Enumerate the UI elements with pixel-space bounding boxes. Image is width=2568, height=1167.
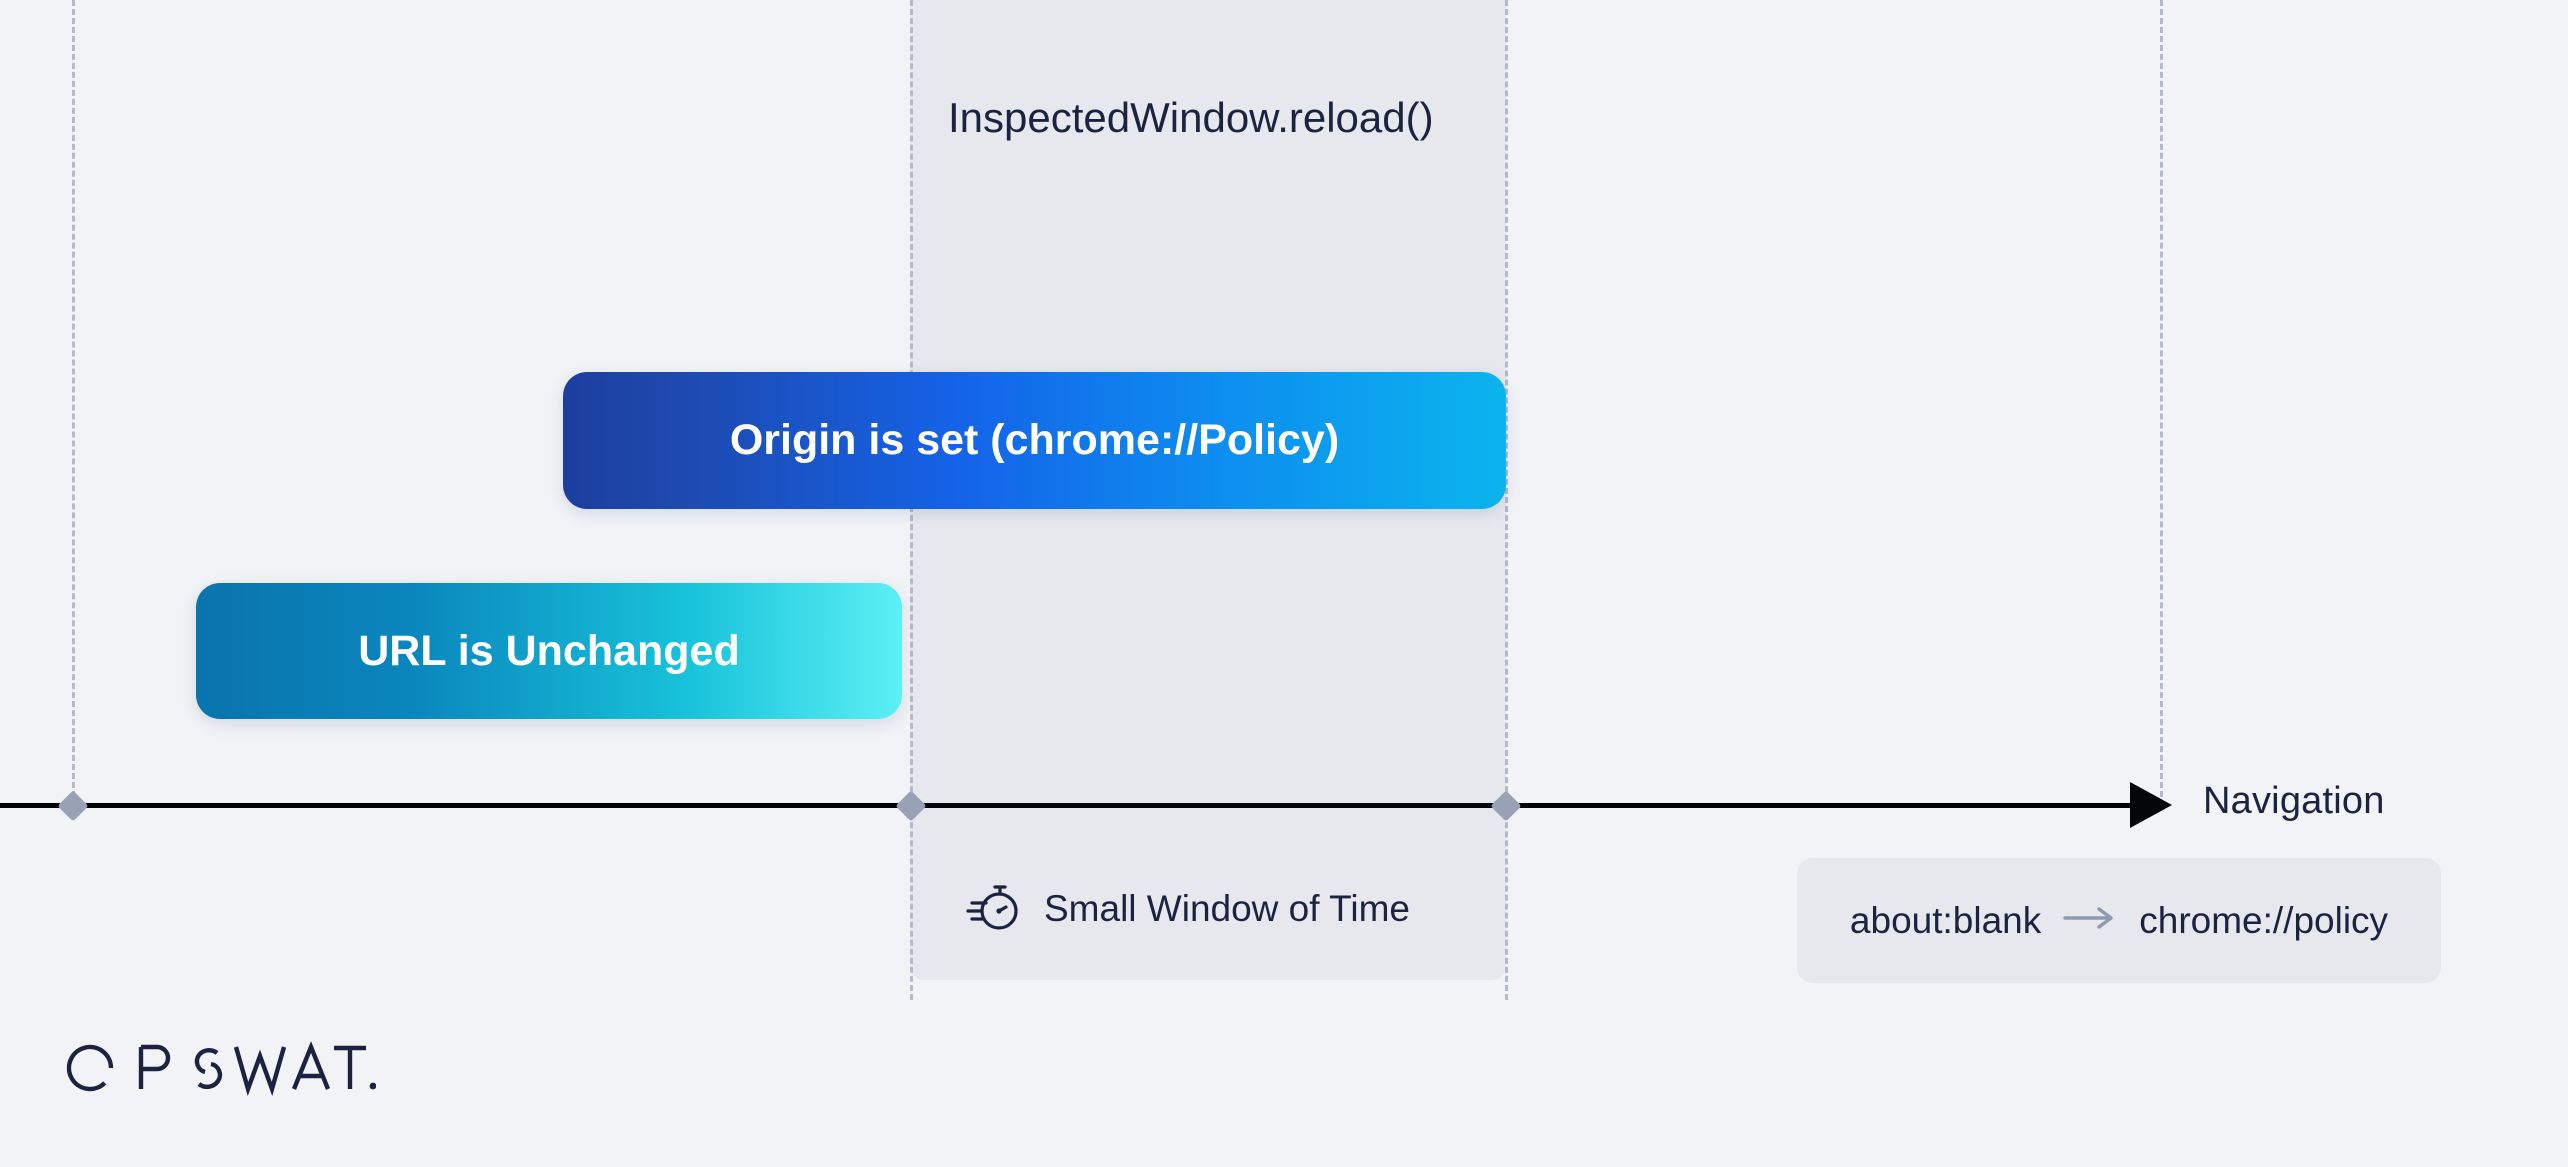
opswat-logo — [66, 1040, 376, 1101]
guide-line-reload-end — [1505, 0, 1508, 1000]
timeline-axis-label: Navigation — [2203, 780, 2385, 823]
stopwatch-icon — [966, 878, 1022, 939]
guide-line-navigation — [2160, 0, 2163, 806]
bar-url-unchanged: URL is Unchanged — [196, 583, 902, 719]
url-to-text: chrome://policy — [2139, 900, 2388, 942]
bar-origin-is-set: Origin is set (chrome://Policy) — [563, 372, 1506, 509]
timeline-axis — [0, 803, 2155, 808]
small-window-caption-text: Small Window of Time — [1044, 888, 1410, 930]
url-from-text: about:blank — [1850, 900, 2041, 942]
band-title: InspectedWindow.reload() — [948, 94, 1434, 142]
url-transition-pill: about:blank chrome://policy — [1797, 858, 2441, 983]
bar-origin-label: Origin is set (chrome://Policy) — [730, 416, 1339, 465]
diagram-canvas: InspectedWindow.reload() Origin is set (… — [0, 0, 2568, 1167]
timeline-arrowhead-icon — [2130, 782, 2172, 828]
timeline-node-start — [57, 790, 88, 821]
bar-url-label: URL is Unchanged — [358, 627, 739, 676]
arrow-right-icon — [2063, 905, 2117, 936]
guide-line-start — [72, 0, 75, 806]
small-window-caption: Small Window of Time — [966, 878, 1410, 939]
